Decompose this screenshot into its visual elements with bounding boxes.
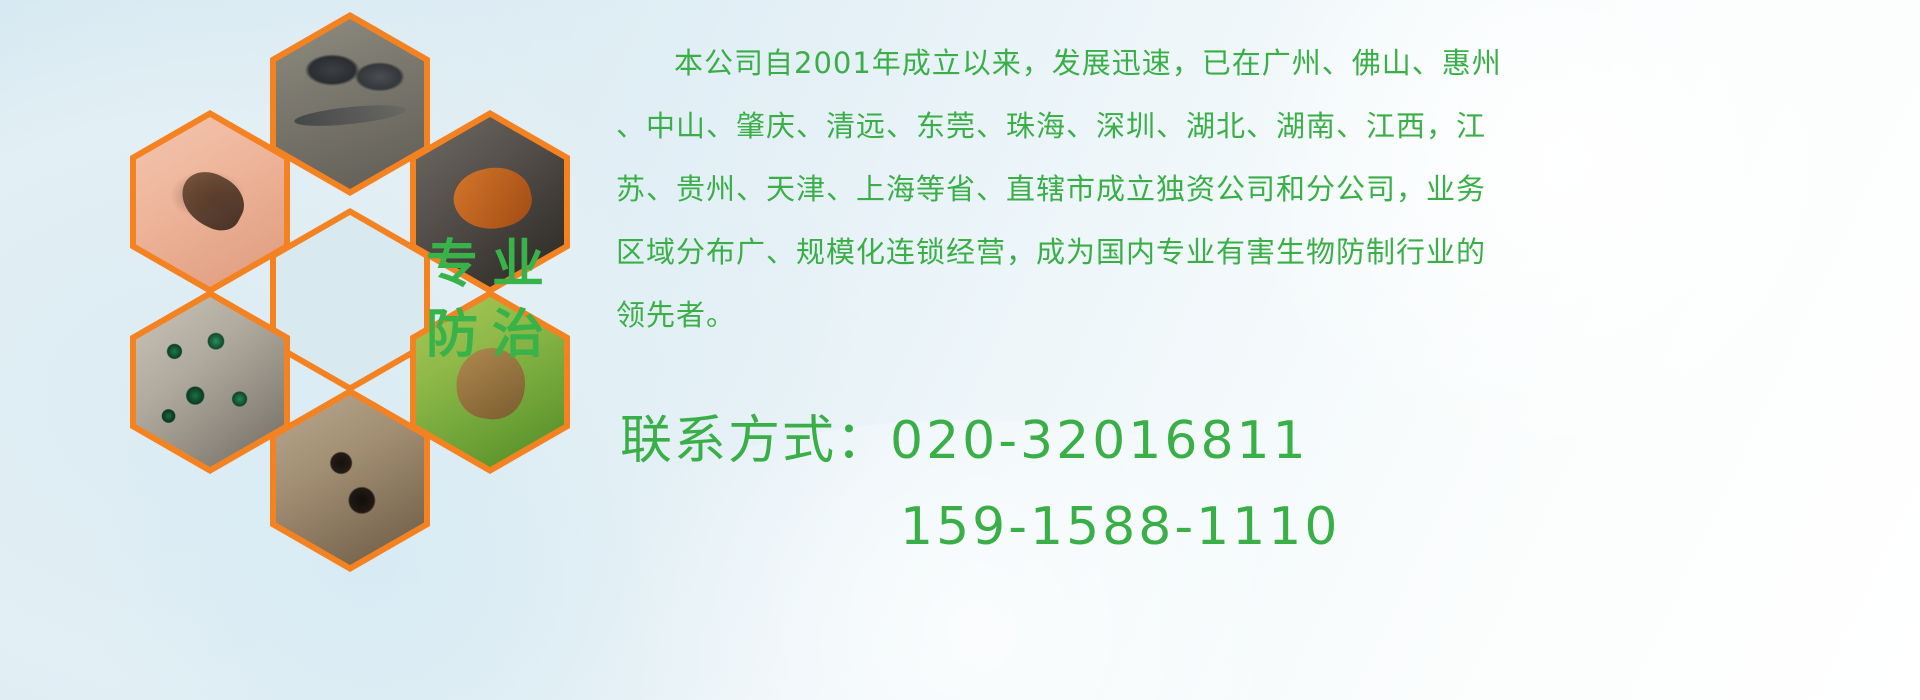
hex-photo-stinkbug (410, 290, 570, 474)
mosquito-image (136, 117, 284, 287)
hex-photo-ant-frame (276, 395, 424, 565)
hex-logo-frame (276, 215, 424, 385)
rat-image (276, 19, 424, 189)
contact-label: 联系方式： (620, 411, 890, 471)
description-line-1: 本公司自2001年成立以来，发展迅速，已在广州、佛山、惠州 (616, 36, 1906, 91)
contact-primary-line: 联系方式：020-32016811 (620, 398, 1820, 484)
contact-phone-secondary[interactable]: 159-1588-1110 (900, 497, 1340, 557)
hex-photo-ant (270, 388, 430, 572)
hex-photo-rat (270, 12, 430, 196)
cockroach-image (416, 117, 564, 287)
description-line-5: 领先者。 (616, 288, 1906, 343)
description-line-4: 区域分布广、规模化连锁经营，成为国内专业有害生物防制行业的 (616, 225, 1906, 280)
hex-photo-collage (95, 12, 595, 572)
hex-photo-cockroach (410, 110, 570, 294)
description-line-3: 苏、贵州、天津、上海等省、直辖市成立独资公司和分公司，业务 (616, 162, 1906, 217)
description-line-2: 、中山、肇庆、清远、东莞、珠海、深圳、湖北、湖南、江西，江 (616, 99, 1906, 154)
stinkbug-image (416, 297, 564, 467)
hex-logo-tile (270, 208, 430, 392)
contact-secondary-line: 159-1588-1110 (620, 484, 1820, 570)
ant-image (276, 395, 424, 565)
hex-photo-cockroach-frame (416, 117, 564, 287)
flies-image (136, 297, 284, 467)
hex-photo-flies-frame (136, 297, 284, 467)
hex-photo-flies (130, 290, 290, 474)
pest-control-banner: 专业 防治 本公司自2001年成立以来，发展迅速，已在广州、佛山、惠州 、中山、… (0, 0, 1920, 700)
hex-photo-stinkbug-frame (416, 297, 564, 467)
company-description: 本公司自2001年成立以来，发展迅速，已在广州、佛山、惠州 、中山、肇庆、清远、… (616, 36, 1906, 351)
contact-phone-primary[interactable]: 020-32016811 (890, 411, 1309, 471)
contact-block: 联系方式：020-32016811 159-1588-1110 (620, 398, 1820, 570)
hex-photo-mosquito-frame (136, 117, 284, 287)
hex-photo-rat-frame (276, 19, 424, 189)
hex-photo-mosquito (130, 110, 290, 294)
